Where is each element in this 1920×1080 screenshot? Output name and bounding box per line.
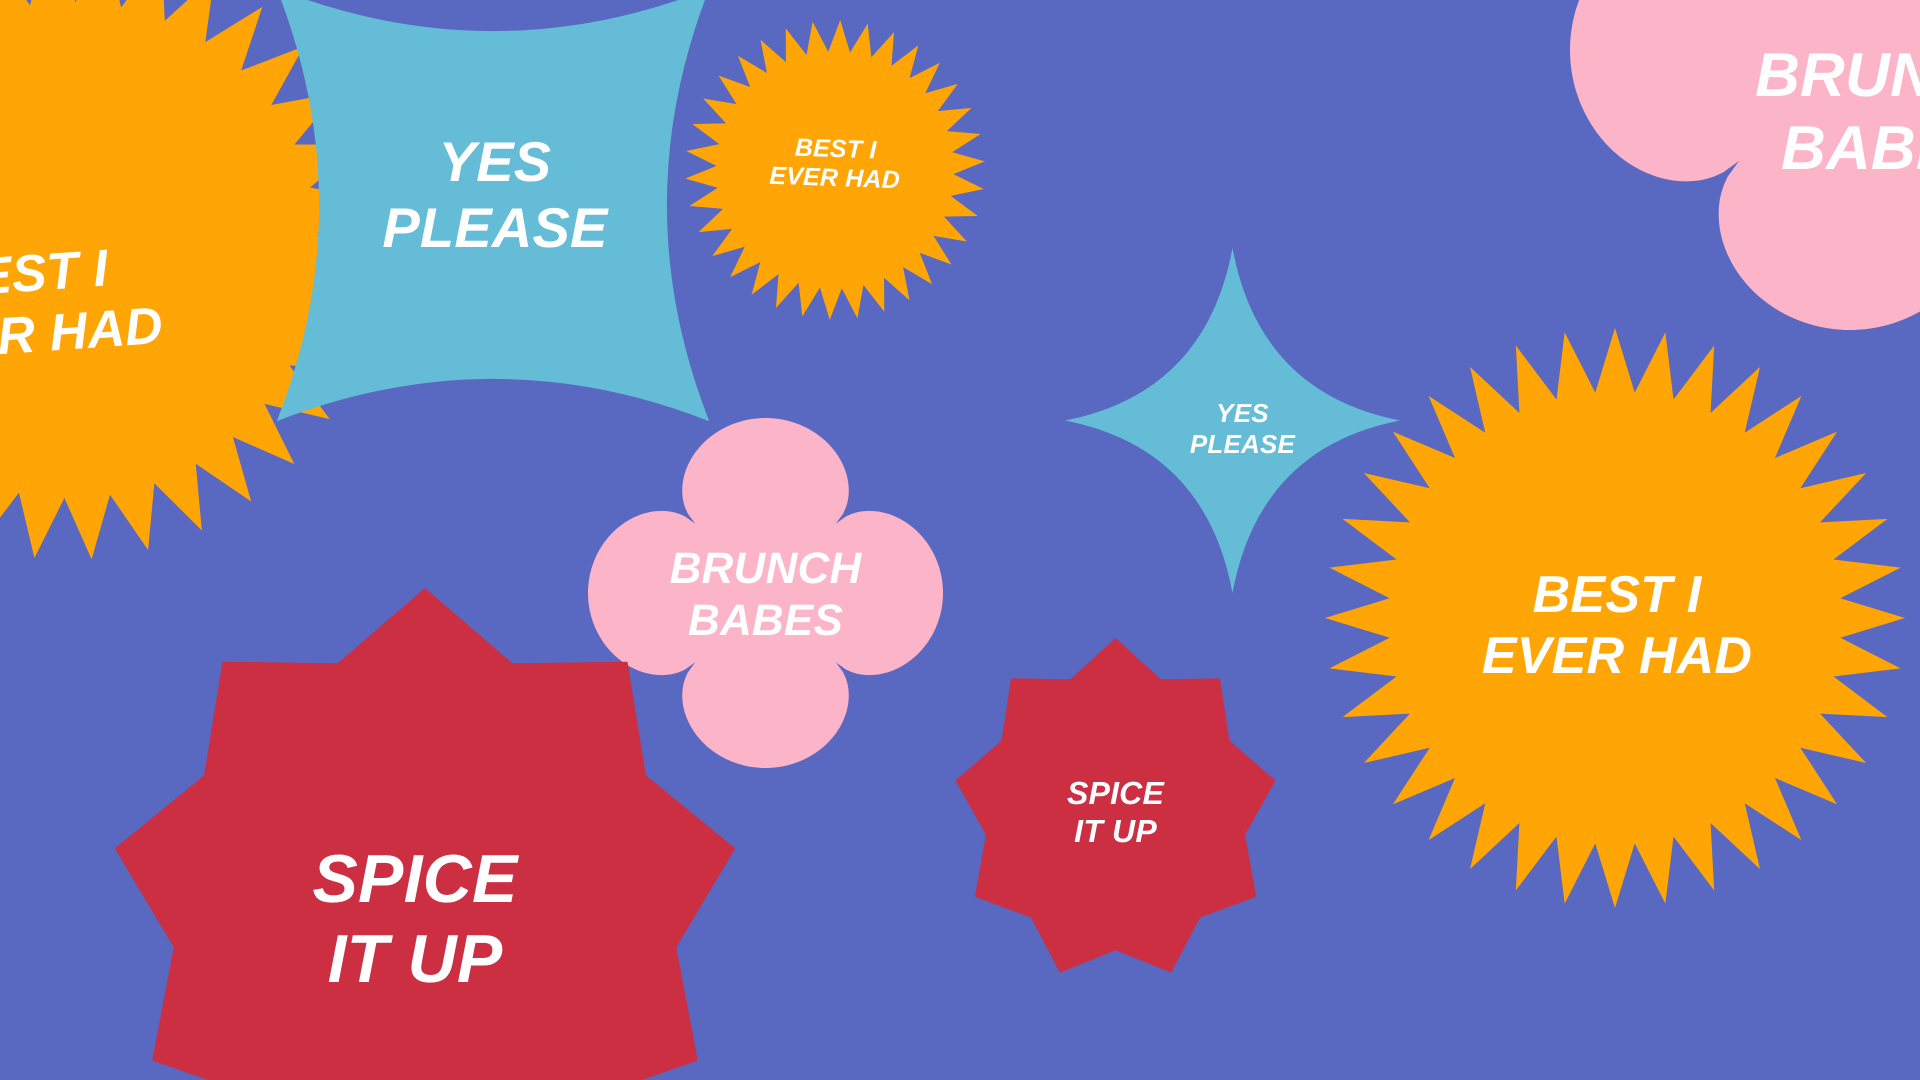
sticker-sunburst-orange-small-top: BEST I EVER HAD [680, 15, 990, 325]
sticker-label: YES PLEASE [1190, 398, 1295, 459]
star9-icon [110, 588, 740, 1080]
sticker-clover-pink-topright: BRUNCH BABES [1570, 0, 1920, 330]
sticker-label: BEST I EVER HAD [1482, 565, 1752, 688]
sticker-label: SPICE IT UP [312, 839, 517, 999]
sticker-label: SPICE IT UP [1067, 775, 1164, 851]
sticker-sunburst-orange-right: BEST I EVER HAD [1325, 328, 1905, 908]
sticker-star9-red-small: SPICE IT UP [953, 638, 1278, 983]
sticker-label: BRUNCH BABES [670, 543, 862, 647]
sticker-label: BEST I EVER HAD [769, 132, 902, 196]
sticker-squircle-teal-top: YES PLEASE [258, 0, 728, 440]
sticker-label: BEST I EVER HAD [0, 235, 165, 376]
poster-canvas: BEST I EVER HADYES PLEASEBEST I EVER HAD… [0, 0, 1920, 1080]
sticker-label: YES PLEASE [382, 129, 607, 261]
sticker-star9-red-large: SPICE IT UP [110, 588, 740, 1080]
sticker-label: BRUNCH BABES [1755, 39, 1920, 185]
